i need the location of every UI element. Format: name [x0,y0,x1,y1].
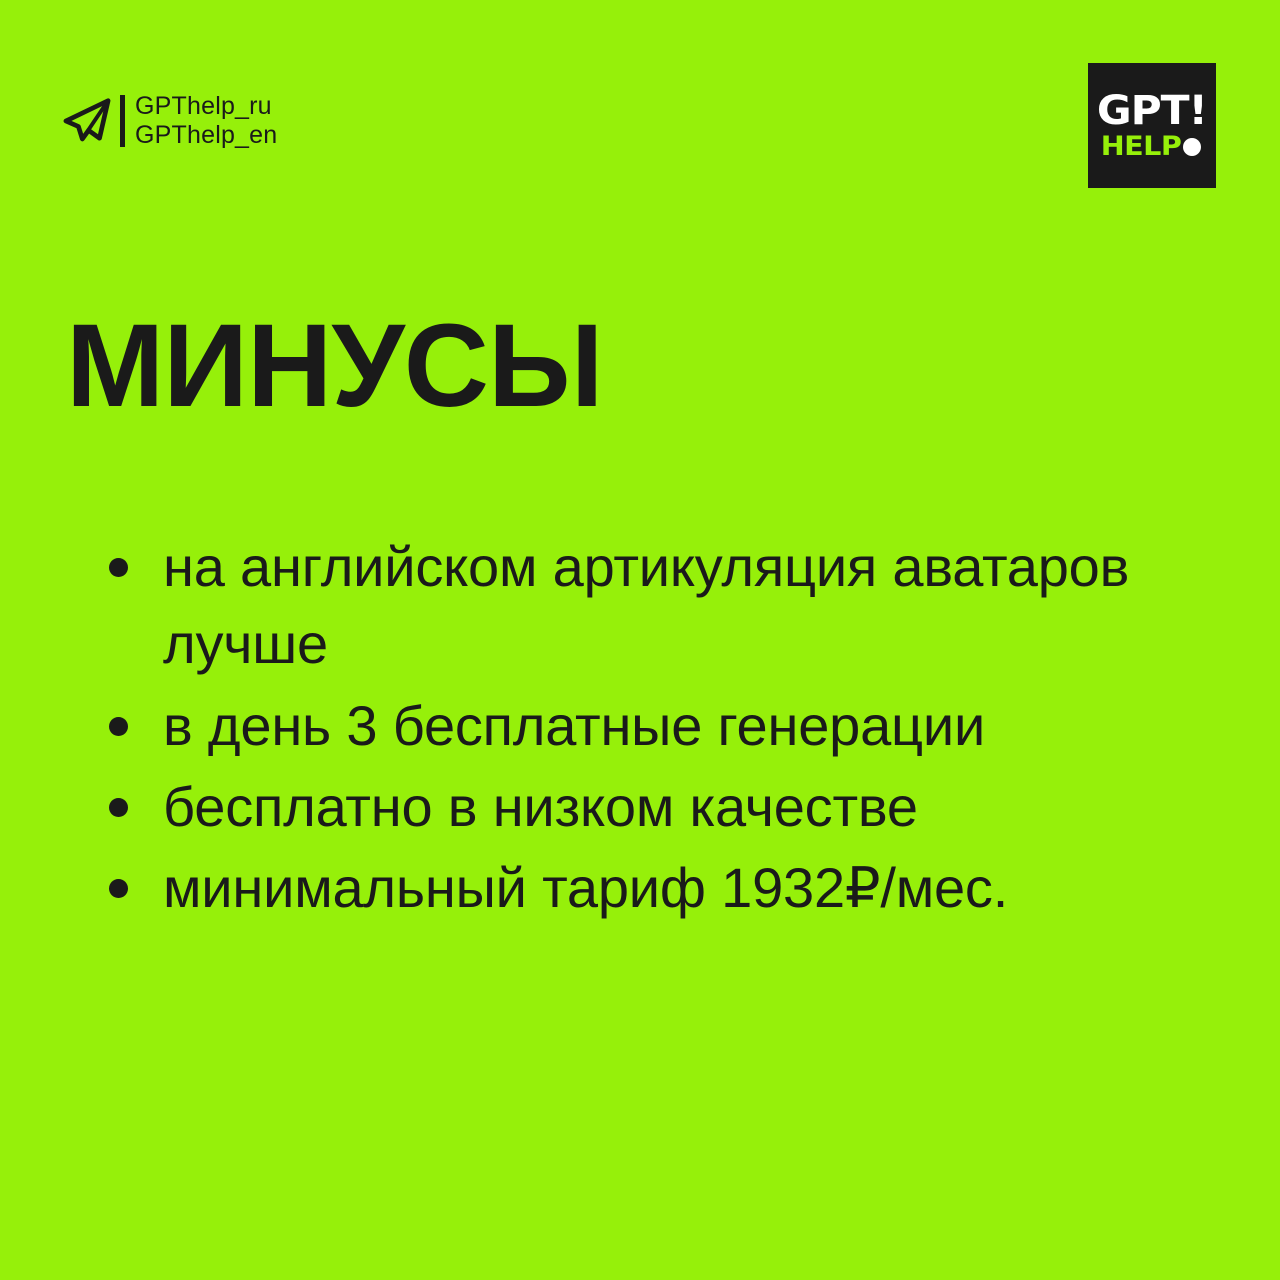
list-item: в день 3 бесплатные генерации [98,687,1218,764]
list-item: бесплатно в низком качестве [98,768,1218,845]
list-item: минимальный тариф 1932₽/мес. [98,849,1218,926]
brand-logo-secondary-row: HELP [1103,133,1201,160]
telegram-handle-list: GPThelp_ru GPThelp_en [135,92,277,150]
list-item: на английском артикуляция аватаров лучше [98,528,1218,683]
list-item-label: бесплатно в низком качестве [163,768,1218,845]
brand-logo[interactable]: GPT! HELP [1088,63,1216,188]
telegram-plane-icon [62,96,112,146]
bullet-list: на английском артикуляция аватаров лучше… [98,528,1218,930]
telegram-handles-group: GPThelp_ru GPThelp_en [62,92,277,150]
brand-logo-secondary: HELP [1101,133,1182,160]
bullet-dot-icon [109,798,128,817]
header: GPThelp_ru GPThelp_en GPT! HELP [0,0,1280,200]
bullet-dot-icon [109,717,128,736]
telegram-handle-ru[interactable]: GPThelp_ru [135,92,277,121]
bullet-dot-icon [109,879,128,898]
page-title: МИНУСЫ [66,307,602,425]
header-divider [120,95,125,147]
telegram-handle-en[interactable]: GPThelp_en [135,121,277,150]
logo-dot-icon [1183,138,1201,156]
list-item-label: на английском артикуляция аватаров лучше [163,528,1218,683]
brand-logo-primary: GPT! [1097,91,1207,131]
bullet-dot-icon [109,558,128,577]
list-item-label: минимальный тариф 1932₽/мес. [163,849,1218,926]
slide-root: GPThelp_ru GPThelp_en GPT! HELP МИНУСЫ н… [0,0,1280,1280]
list-item-label: в день 3 бесплатные генерации [163,687,1218,764]
